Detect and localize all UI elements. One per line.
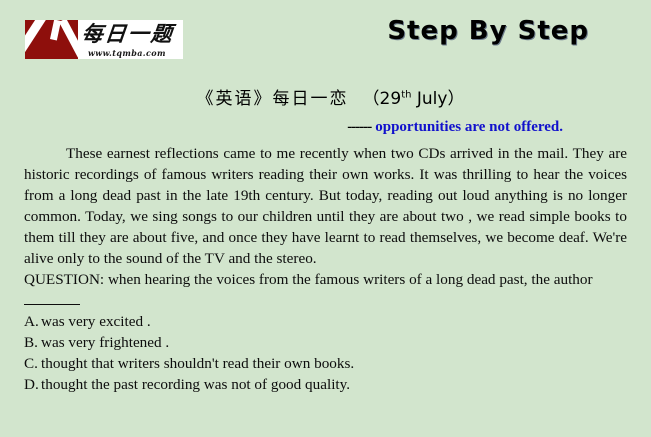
- date-ordinal-suffix: th: [401, 89, 411, 100]
- date-open-paren: （: [363, 89, 380, 109]
- site-logo[interactable]: 每日一题 www.tqmba.com: [25, 20, 183, 59]
- document-page: 每日一题 www.tqmba.com Step By Step 《英语》每日一恋…: [0, 0, 651, 437]
- answer-blank[interactable]: [24, 304, 80, 305]
- logo-url: www.tqmba.com: [88, 48, 166, 58]
- option-c[interactable]: C.thought that writers shouldn't read th…: [24, 353, 627, 374]
- date-number: 29: [380, 89, 402, 109]
- logo-stroke-left: [25, 20, 47, 59]
- brand-title: Step By Step: [387, 16, 589, 46]
- page-title: 《英语》每日一恋（29th July）: [0, 84, 651, 109]
- subtitle-dashes: ------: [347, 119, 371, 135]
- option-c-text: thought that writers shouldn't read thei…: [41, 355, 354, 372]
- date-close-paren: ）: [447, 89, 464, 109]
- option-b-text: was very frightened .: [41, 334, 169, 351]
- question-text: QUESTION: when hearing the voices from t…: [24, 271, 593, 288]
- logo-calligraphy: 每日一题: [80, 20, 175, 48]
- logo-stroke-top: [50, 20, 61, 41]
- option-d-letter: D.: [24, 374, 41, 395]
- option-b[interactable]: B.was very frightened .: [24, 332, 627, 353]
- option-a[interactable]: A.was very excited .: [24, 311, 627, 332]
- subtitle-row: ------opportunities are not offered.: [0, 118, 651, 136]
- option-b-letter: B.: [24, 332, 41, 353]
- option-a-letter: A.: [24, 311, 41, 332]
- subtitle-text: opportunities are not offered.: [375, 119, 563, 135]
- option-d[interactable]: D.thought the past recording was not of …: [24, 374, 627, 395]
- logo-text-panel: 每日一题 www.tqmba.com: [78, 20, 183, 59]
- answer-options: A.was very excited . B.was very frighten…: [24, 311, 627, 395]
- option-a-text: was very excited .: [41, 313, 151, 330]
- option-d-text: thought the past recording was not of go…: [41, 376, 350, 393]
- logo-person-icon: [25, 20, 78, 59]
- question-line: QUESTION: when hearing the voices from t…: [24, 269, 627, 311]
- date-month: July: [411, 89, 447, 109]
- body-text: These earnest reflections came to me rec…: [24, 143, 627, 395]
- page-title-chinese: 《英语》每日一恋: [197, 89, 349, 109]
- page-header: 每日一题 www.tqmba.com Step By Step: [0, 0, 651, 72]
- logo-stroke-right: [59, 20, 78, 57]
- page-title-date: （29th July）: [363, 89, 465, 109]
- reading-paragraph: These earnest reflections came to me rec…: [24, 143, 627, 269]
- option-c-letter: C.: [24, 353, 41, 374]
